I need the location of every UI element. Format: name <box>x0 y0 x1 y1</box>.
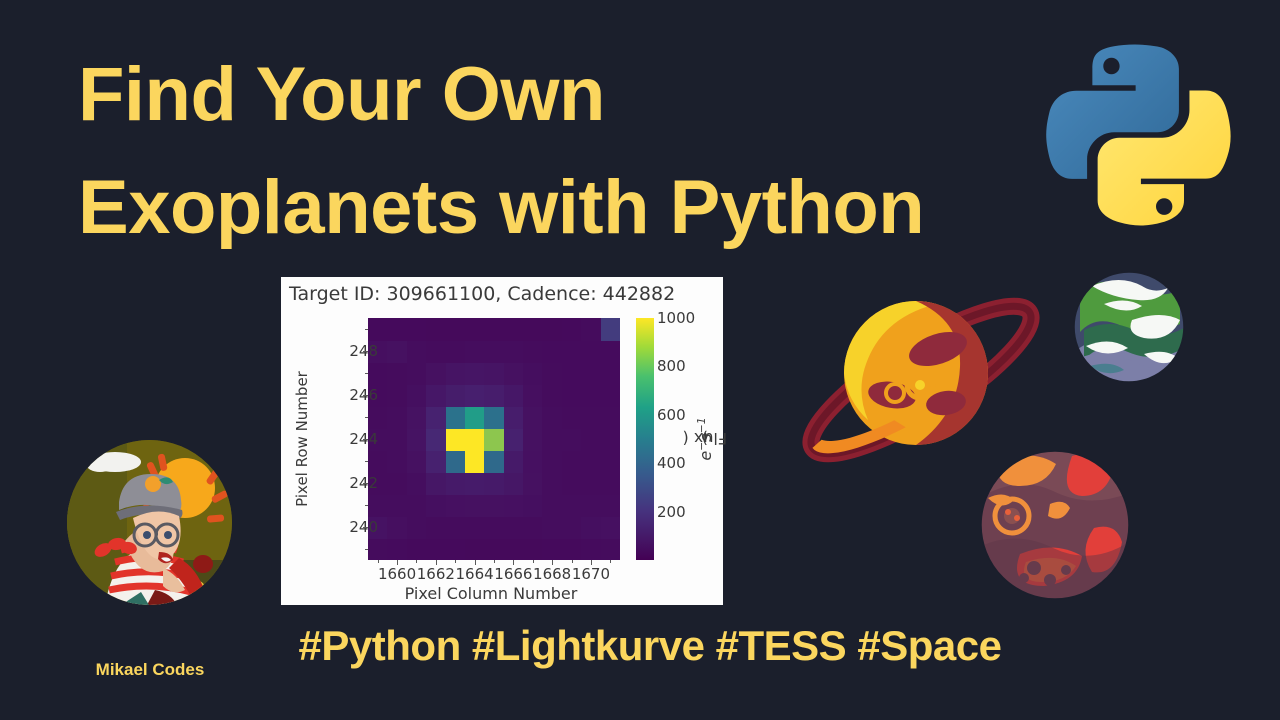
heatmap-cell <box>446 340 466 363</box>
hashtags: #Python #Lightkurve #TESS #Space <box>0 622 1280 670</box>
heatmap-cell <box>581 538 601 560</box>
heatmap-cell <box>601 406 620 429</box>
x-tick-mark <box>436 560 437 565</box>
heatmap-cell <box>581 428 601 451</box>
title-line-1: Find Your Own <box>78 38 1038 151</box>
heatmap-cell <box>465 340 485 363</box>
heatmap-cell <box>465 450 485 473</box>
heatmap-cell <box>484 362 504 385</box>
tess-pixel-heatmap-figure: Target ID: 309661100, Cadence: 442882 Pi… <box>281 277 723 605</box>
heatmap-cell <box>581 340 601 363</box>
heatmap-cell <box>368 450 388 473</box>
heatmap-cell <box>465 406 485 429</box>
heatmap-cell <box>368 318 388 341</box>
thumbnail-canvas: Find Your Own Exoplanets with Python Tar… <box>0 0 1280 720</box>
colorbar-tick-label: 200 <box>657 503 701 521</box>
x-minor-tick-mark <box>455 560 456 563</box>
chart-title: Target ID: 309661100, Cadence: 442882 <box>289 283 675 305</box>
heatmap-cell <box>542 428 562 451</box>
heatmap-cell <box>523 428 543 451</box>
heatmap-cell <box>504 516 524 539</box>
heatmap-cell <box>484 538 504 560</box>
heatmap-cell <box>542 340 562 363</box>
y-minor-tick-mark <box>365 461 368 462</box>
heatmap-cell <box>601 384 620 407</box>
heatmap-cell <box>542 516 562 539</box>
heatmap-cell <box>465 318 485 341</box>
y-tick-mark <box>363 527 368 528</box>
heatmap-cell <box>368 538 388 560</box>
heatmap-cell <box>523 340 543 363</box>
page-title: Find Your Own Exoplanets with Python <box>78 38 1038 264</box>
heatmap-cell <box>504 362 524 385</box>
y-minor-tick-mark <box>365 373 368 374</box>
heatmap-cell <box>581 406 601 429</box>
heatmap-cell <box>465 362 485 385</box>
heatmap-cell <box>562 450 582 473</box>
heatmap-cell <box>581 494 601 517</box>
y-minor-tick-mark <box>365 417 368 418</box>
heatmap-cell <box>523 318 543 341</box>
heatmap-cell <box>601 450 620 473</box>
heatmap-cell <box>484 384 504 407</box>
heatmap-cell <box>465 384 485 407</box>
heatmap-cell <box>484 340 504 363</box>
x-minor-tick-mark <box>572 560 573 563</box>
heatmap-cell <box>387 450 407 473</box>
heatmap-cell <box>523 362 543 385</box>
heatmap-cell <box>387 516 407 539</box>
heatmap-cell <box>407 516 427 539</box>
heatmap-cell <box>387 318 407 341</box>
heatmap-cell <box>426 472 446 495</box>
x-minor-tick-mark <box>416 560 417 563</box>
heatmap-cell <box>581 362 601 385</box>
heatmap-cell <box>446 318 466 341</box>
heatmap-cell <box>484 516 504 539</box>
heatmap-cell <box>581 384 601 407</box>
heatmap-cell <box>465 428 485 451</box>
y-tick-label: 246 <box>328 386 378 404</box>
heatmap-cell <box>426 494 446 517</box>
heatmap-cell <box>368 494 388 517</box>
colorbar-tick-label: 1000 <box>657 309 701 327</box>
heatmap-cell <box>446 450 466 473</box>
heatmap-cell <box>387 362 407 385</box>
heatmap-cell <box>387 494 407 517</box>
heatmap-cell <box>446 516 466 539</box>
heatmap-cell <box>562 362 582 385</box>
x-minor-tick-mark <box>610 560 611 563</box>
heatmap-cell <box>426 362 446 385</box>
heatmap-cell <box>446 406 466 429</box>
heatmap-cell <box>368 362 388 385</box>
heatmap-cell <box>601 472 620 495</box>
x-minor-tick-mark <box>533 560 534 563</box>
heatmap-cell <box>542 362 562 385</box>
heatmap-cell <box>523 516 543 539</box>
heatmap-cell <box>601 340 620 363</box>
heatmap-cell <box>542 450 562 473</box>
heatmap-cell <box>387 384 407 407</box>
y-tick-label: 244 <box>328 430 378 448</box>
heatmap-cell <box>581 516 601 539</box>
heatmap-cell <box>504 428 524 451</box>
heatmap-cell <box>407 450 427 473</box>
heatmap-cell <box>504 494 524 517</box>
heatmap-cell <box>484 318 504 341</box>
chart-ylabel: Pixel Row Number <box>295 318 309 560</box>
x-minor-tick-mark <box>494 560 495 563</box>
heatmap-cell <box>523 472 543 495</box>
mars-like-planet-icon <box>976 446 1134 604</box>
heatmap-cell <box>407 494 427 517</box>
heatmap-cell <box>523 538 543 560</box>
heatmap-cell <box>387 538 407 560</box>
heatmap-cell <box>542 494 562 517</box>
heatmap-cell <box>542 384 562 407</box>
heatmap-cell <box>446 384 466 407</box>
heatmap-cell <box>387 340 407 363</box>
heatmap-cell <box>562 340 582 363</box>
heatmap-cell <box>426 516 446 539</box>
heatmap-cell <box>368 406 388 429</box>
heatmap-cell <box>562 516 582 539</box>
heatmap-cell <box>446 494 466 517</box>
heatmap-cell <box>562 406 582 429</box>
heatmap-cell <box>465 516 485 539</box>
heatmap-cell <box>446 362 466 385</box>
heatmap-cell <box>484 406 504 429</box>
x-minor-tick-mark <box>378 560 379 563</box>
heatmap-cell <box>484 494 504 517</box>
heatmap-cell <box>426 340 446 363</box>
heatmap-cell <box>407 472 427 495</box>
colorbar-tick-label: 800 <box>657 357 701 375</box>
heatmap-cell <box>484 450 504 473</box>
y-tick-mark <box>363 395 368 396</box>
heatmap-cell <box>601 538 620 560</box>
heatmap-plot-area <box>368 318 620 560</box>
y-minor-tick-mark <box>365 549 368 550</box>
heatmap-cell <box>446 472 466 495</box>
heatmap-cell <box>581 450 601 473</box>
heatmap-cell <box>601 318 620 341</box>
y-tick-mark <box>363 439 368 440</box>
heatmap-cell <box>562 318 582 341</box>
heatmap-cell <box>562 428 582 451</box>
x-tick-mark <box>591 560 592 565</box>
heatmap-cell <box>407 384 427 407</box>
avatar <box>67 440 232 605</box>
heatmap-cell <box>426 538 446 560</box>
heatmap-cell <box>407 428 427 451</box>
y-tick-label: 242 <box>328 474 378 492</box>
heatmap-cell <box>542 538 562 560</box>
heatmap-cell <box>407 340 427 363</box>
heatmap-cell <box>446 538 466 560</box>
heatmap-cell <box>387 406 407 429</box>
heatmap-cell <box>446 428 466 451</box>
heatmap-cell <box>407 318 427 341</box>
heatmap-cell <box>465 472 485 495</box>
earth-like-planet-icon <box>1070 268 1188 386</box>
heatmap-cell <box>504 318 524 341</box>
heatmap-cell <box>542 472 562 495</box>
python-logo-icon <box>1036 33 1236 233</box>
heatmap-cell <box>504 538 524 560</box>
heatmap-cell <box>407 538 427 560</box>
heatmap-cell <box>426 406 446 429</box>
heatmap-cell <box>465 538 485 560</box>
heatmap-cell <box>523 406 543 429</box>
heatmap-cell <box>601 428 620 451</box>
y-tick-mark <box>363 483 368 484</box>
heatmap-cell <box>407 362 427 385</box>
x-tick-label: 1670 <box>561 565 621 583</box>
y-tick-label: 248 <box>328 342 378 360</box>
heatmap-cell <box>601 494 620 517</box>
heatmap-cell <box>504 384 524 407</box>
heatmap-cell <box>523 494 543 517</box>
heatmap-cell <box>407 406 427 429</box>
x-tick-mark <box>552 560 553 565</box>
colorbar-label: Flux (e− s−1) <box>697 318 713 560</box>
heatmap-cell <box>426 428 446 451</box>
heatmap-cell <box>601 362 620 385</box>
heatmap-cell <box>504 406 524 429</box>
heatmap-cell <box>601 516 620 539</box>
heatmap-cell <box>562 472 582 495</box>
heatmap-cell <box>542 318 562 341</box>
y-minor-tick-mark <box>365 505 368 506</box>
heatmap-cell <box>523 450 543 473</box>
heatmap-cell <box>562 494 582 517</box>
heatmap-cell <box>484 472 504 495</box>
heatmap-cell <box>581 472 601 495</box>
y-minor-tick-mark <box>365 329 368 330</box>
heatmap-cell <box>465 494 485 517</box>
heatmap-cell <box>581 318 601 341</box>
heatmap-cell <box>426 450 446 473</box>
heatmap-cell <box>504 340 524 363</box>
heatmap-cell <box>523 384 543 407</box>
heatmap-cell <box>426 318 446 341</box>
colorbar <box>636 318 654 560</box>
x-tick-mark <box>475 560 476 565</box>
heatmap-cell <box>562 384 582 407</box>
heatmap-cell <box>426 384 446 407</box>
y-tick-label: 240 <box>328 518 378 536</box>
heatmap-cell <box>484 428 504 451</box>
x-tick-mark <box>513 560 514 565</box>
heatmap-cell <box>387 428 407 451</box>
y-tick-mark <box>363 351 368 352</box>
x-tick-mark <box>397 560 398 565</box>
heatmap-cell <box>562 538 582 560</box>
heatmap-cell <box>542 406 562 429</box>
heatmap-cell <box>387 472 407 495</box>
chart-xlabel: Pixel Column Number <box>281 584 701 603</box>
heatmap-cell <box>504 472 524 495</box>
heatmap-cell <box>504 450 524 473</box>
